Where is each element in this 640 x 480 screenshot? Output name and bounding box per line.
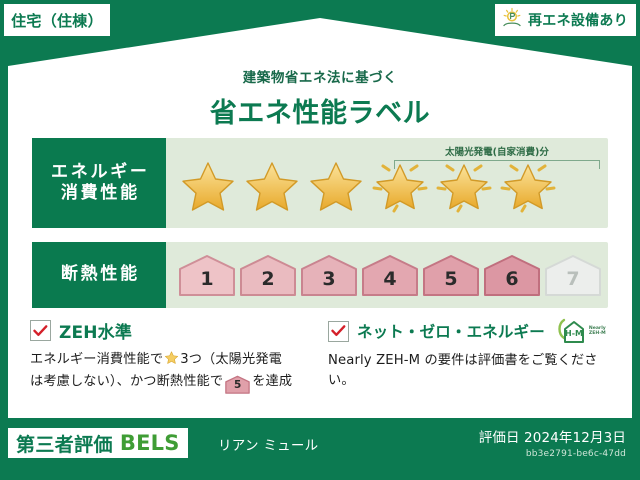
nze-check-head: ネット・ゼロ・エネルギー H-M Nearly ZEH-M bbox=[328, 318, 608, 344]
energy-performance-row: エネルギー 消費性能 太陽光発電(自家消費)分 bbox=[32, 138, 608, 228]
solar-sun-icon bbox=[501, 7, 523, 33]
evaluation-date: 評価日 2024年12月3日 bbox=[479, 426, 626, 446]
insulation-level-badge-inactive: 7 bbox=[544, 253, 602, 297]
energy-label-line2: 消費性能 bbox=[58, 183, 140, 204]
zeh-description: エネルギー消費性能で 3つ（太陽光発電 は考慮しない）、かつ断熱性能で 5を達成 bbox=[30, 350, 310, 393]
insulation-level-badge: 5 bbox=[422, 253, 480, 297]
net-zero-energy-section: ネット・ゼロ・エネルギー H-M Nearly ZEH-M Nearly ZEH… bbox=[328, 318, 608, 392]
building-type-tag: 住宅（住棟） bbox=[4, 4, 110, 36]
bels-jp-label: 第三者評価 bbox=[16, 430, 113, 457]
net-zero-checkbox[interactable] bbox=[328, 321, 349, 342]
star-icon-solar bbox=[370, 157, 430, 215]
insulation-level-value: 2 bbox=[261, 268, 274, 297]
insulation-label: 断熱性能 bbox=[58, 264, 140, 285]
insulation-performance-label-block: 断熱性能 bbox=[32, 242, 166, 308]
insulation-level-badges: 1 2 3 4 5 bbox=[166, 253, 602, 297]
renewable-tag-label: 再エネ設備あり bbox=[528, 10, 628, 30]
bels-en-label: BELS bbox=[120, 431, 180, 455]
solar-bracket-label: 太陽光発電(自家消費)分 bbox=[394, 144, 600, 158]
check-icon bbox=[33, 325, 48, 337]
insulation-performance-row: 断熱性能 1 2 3 bbox=[32, 242, 608, 308]
check-icon bbox=[331, 325, 346, 337]
star-icon bbox=[306, 157, 366, 215]
zeh-checkbox[interactable] bbox=[30, 320, 51, 341]
insulation-level-badge: 6 bbox=[483, 253, 541, 297]
svg-text:H-M: H-M bbox=[565, 329, 583, 338]
insulation-level-value: 3 bbox=[322, 268, 335, 297]
zeh-text-part3: を達成 bbox=[252, 374, 292, 389]
star-icon bbox=[178, 157, 238, 215]
inline-insulation-badge: 5 bbox=[225, 375, 250, 392]
star-rating bbox=[166, 157, 558, 215]
evaluation-id: bb3e2791-be6c-47dd bbox=[479, 449, 626, 459]
net-zero-title: ネット・ゼロ・エネルギー bbox=[357, 320, 545, 342]
zeh-m-house-icon: H-M bbox=[557, 318, 587, 344]
footer: 第三者評価 BELS リアン ミュール 評価日 2024年12月3日 bb3e2… bbox=[0, 424, 640, 480]
label-card: 建築物省エネ法に基づく 省エネ性能ラベル エネルギー 消費性能 太陽光発電(自家… bbox=[8, 18, 632, 418]
net-zero-description: Nearly ZEH-M の要件は評価書をご覧ください。 bbox=[328, 351, 608, 392]
page-title: 省エネ性能ラベル bbox=[8, 91, 632, 130]
bels-evaluation-block: 第三者評価 BELS bbox=[8, 428, 188, 458]
zeh-text-part2: は考慮しない）、かつ断熱性能で bbox=[30, 374, 223, 389]
energy-stars-area: 太陽光発電(自家消費)分 bbox=[166, 138, 608, 228]
inline-badge-value: 5 bbox=[225, 375, 250, 395]
insulation-level-value: 5 bbox=[444, 268, 457, 297]
insulation-level-value: 7 bbox=[566, 268, 579, 297]
building-name: リアン ミュール bbox=[218, 434, 318, 454]
star-icon-solar bbox=[434, 157, 494, 215]
insulation-level-badge: 2 bbox=[239, 253, 297, 297]
energy-performance-label-block: エネルギー 消費性能 bbox=[32, 138, 166, 228]
insulation-level-value: 4 bbox=[383, 268, 396, 297]
zeh-text-part1: エネルギー消費性能で bbox=[30, 352, 163, 367]
insulation-levels-area: 1 2 3 4 5 bbox=[166, 242, 608, 308]
star-icon bbox=[242, 157, 302, 215]
zeh-m-sub-line2: ZEH-M bbox=[589, 331, 606, 336]
title-block: 建築物省エネ法に基づく 省エネ性能ラベル bbox=[8, 66, 632, 130]
energy-performance-label: 住宅（住棟） 再エネ設備あり 建築物省エネ法に基づく 省エネ性能ラベル bbox=[0, 0, 640, 480]
zeh-m-logo-subtext: Nearly ZEH-M bbox=[589, 326, 606, 337]
zeh-text-stars: 3つ（太陽光発電 bbox=[180, 352, 282, 367]
insulation-level-badge: 1 bbox=[178, 253, 236, 297]
insulation-level-badge: 4 bbox=[361, 253, 419, 297]
zeh-check-head: ZEH水準 bbox=[30, 318, 310, 343]
zeh-standard-section: ZEH水準 エネルギー消費性能で 3つ（太陽光発電 は考慮しない）、かつ断熱性能… bbox=[30, 318, 310, 393]
energy-label-line1: エネルギー bbox=[48, 162, 149, 183]
inline-star-icon bbox=[164, 350, 179, 372]
star-icon-solar bbox=[498, 157, 558, 215]
insulation-level-badge: 3 bbox=[300, 253, 358, 297]
title-subtitle: 建築物省エネ法に基づく bbox=[8, 66, 632, 86]
zeh-m-sub-line1: Nearly bbox=[589, 326, 606, 331]
insulation-level-value: 1 bbox=[200, 268, 213, 297]
zeh-m-logo: H-M Nearly ZEH-M bbox=[557, 318, 606, 344]
evaluation-info: 評価日 2024年12月3日 bb3e2791-be6c-47dd bbox=[479, 426, 626, 459]
insulation-level-value: 6 bbox=[505, 268, 518, 297]
zeh-title: ZEH水準 bbox=[59, 318, 132, 343]
renewable-equipment-badge: 再エネ設備あり bbox=[495, 4, 636, 36]
